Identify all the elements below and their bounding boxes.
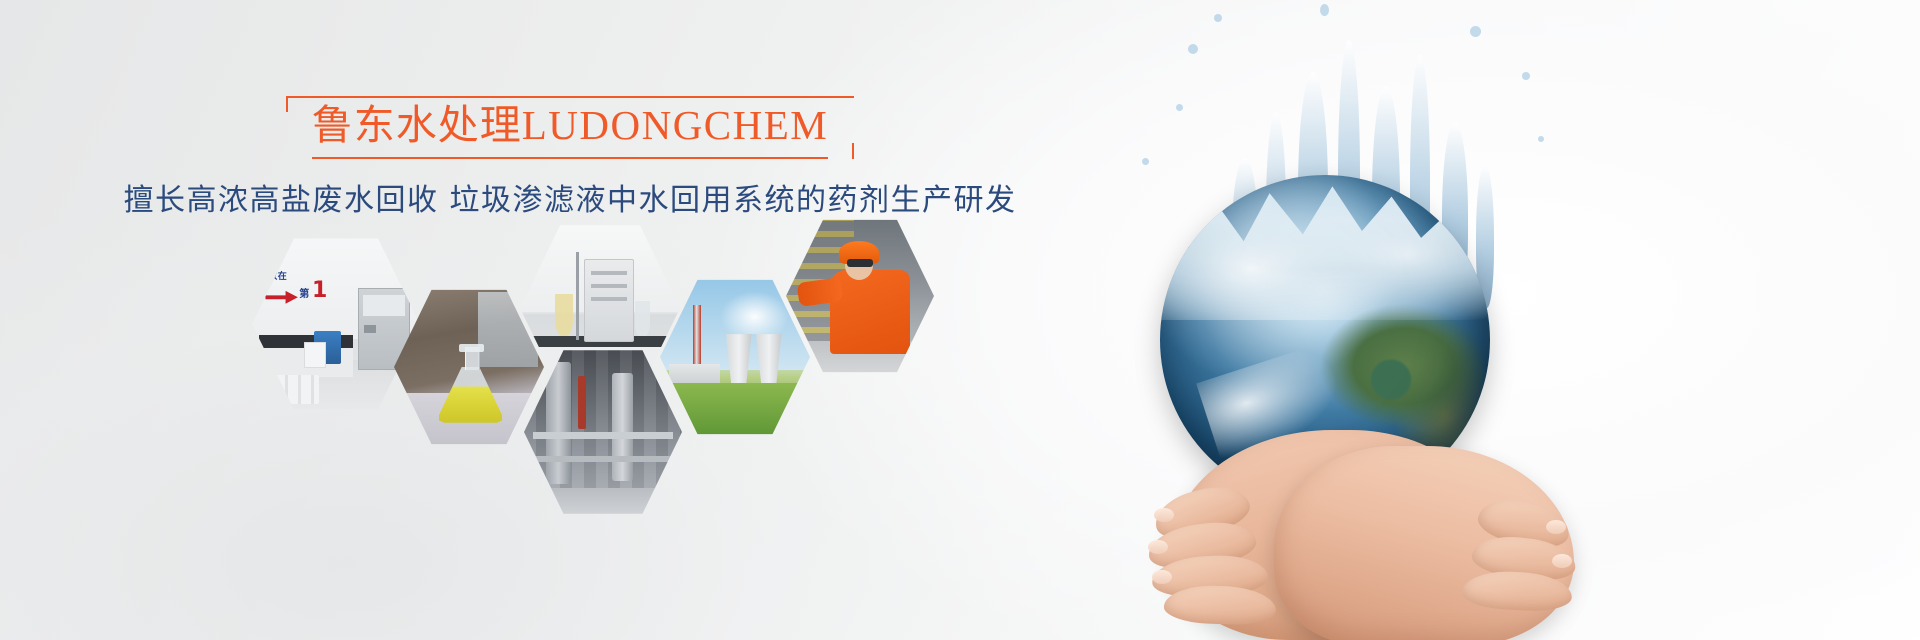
hex-tile-power-plant[interactable] bbox=[660, 275, 810, 439]
bracket-bottom-line bbox=[312, 157, 829, 159]
bracket-bottom-right-tick bbox=[852, 143, 854, 159]
brand-title-en: LUDONGCHEM bbox=[522, 102, 829, 148]
photo-worker bbox=[786, 215, 934, 377]
bracket-top-line bbox=[286, 96, 855, 98]
wall-slogan-text-1: 放在 bbox=[268, 269, 287, 282]
hero-banner: 鲁东水处理LUDONGCHEM 擅长高浓高盐废水回收 垃圾渗滤液中水回用系统的药… bbox=[0, 0, 1920, 640]
banner-subtitle: 擅长高浓高盐废水回收 垃圾渗滤液中水回用系统的药剂生产研发 bbox=[0, 175, 1140, 219]
photo-lab-room: 放在 第 1 bbox=[252, 233, 420, 415]
page-title: 鲁东水处理LUDONGCHEM bbox=[312, 102, 829, 149]
hex-tile-lab-room[interactable]: 放在 第 1 bbox=[252, 233, 420, 415]
wall-slogan: 放在 第 1 bbox=[265, 269, 336, 316]
brand-title-cn: 鲁东水处理 bbox=[312, 102, 522, 148]
cupped-hands bbox=[1124, 340, 1594, 640]
banner-text-block: 鲁东水处理LUDONGCHEM 擅长高浓高盐废水回收 垃圾渗滤液中水回用系统的药… bbox=[0, 96, 1140, 219]
brand-title-frame: 鲁东水处理LUDONGCHEM bbox=[286, 96, 855, 159]
photo-power-plant bbox=[660, 275, 810, 439]
bracket-top-left-tick bbox=[286, 96, 288, 112]
arrow-icon bbox=[265, 289, 297, 305]
wall-slogan-number: 1 bbox=[312, 280, 327, 302]
hex-tile-industrial-pipes[interactable] bbox=[524, 345, 682, 519]
hex-tile-worker[interactable] bbox=[786, 215, 934, 377]
photo-industrial-pipes bbox=[524, 345, 682, 519]
hexagon-photo-cluster: 放在 第 1 bbox=[0, 215, 1060, 525]
water-globe-artwork bbox=[1110, 0, 1610, 640]
wall-slogan-text-2: 第 bbox=[299, 285, 309, 300]
